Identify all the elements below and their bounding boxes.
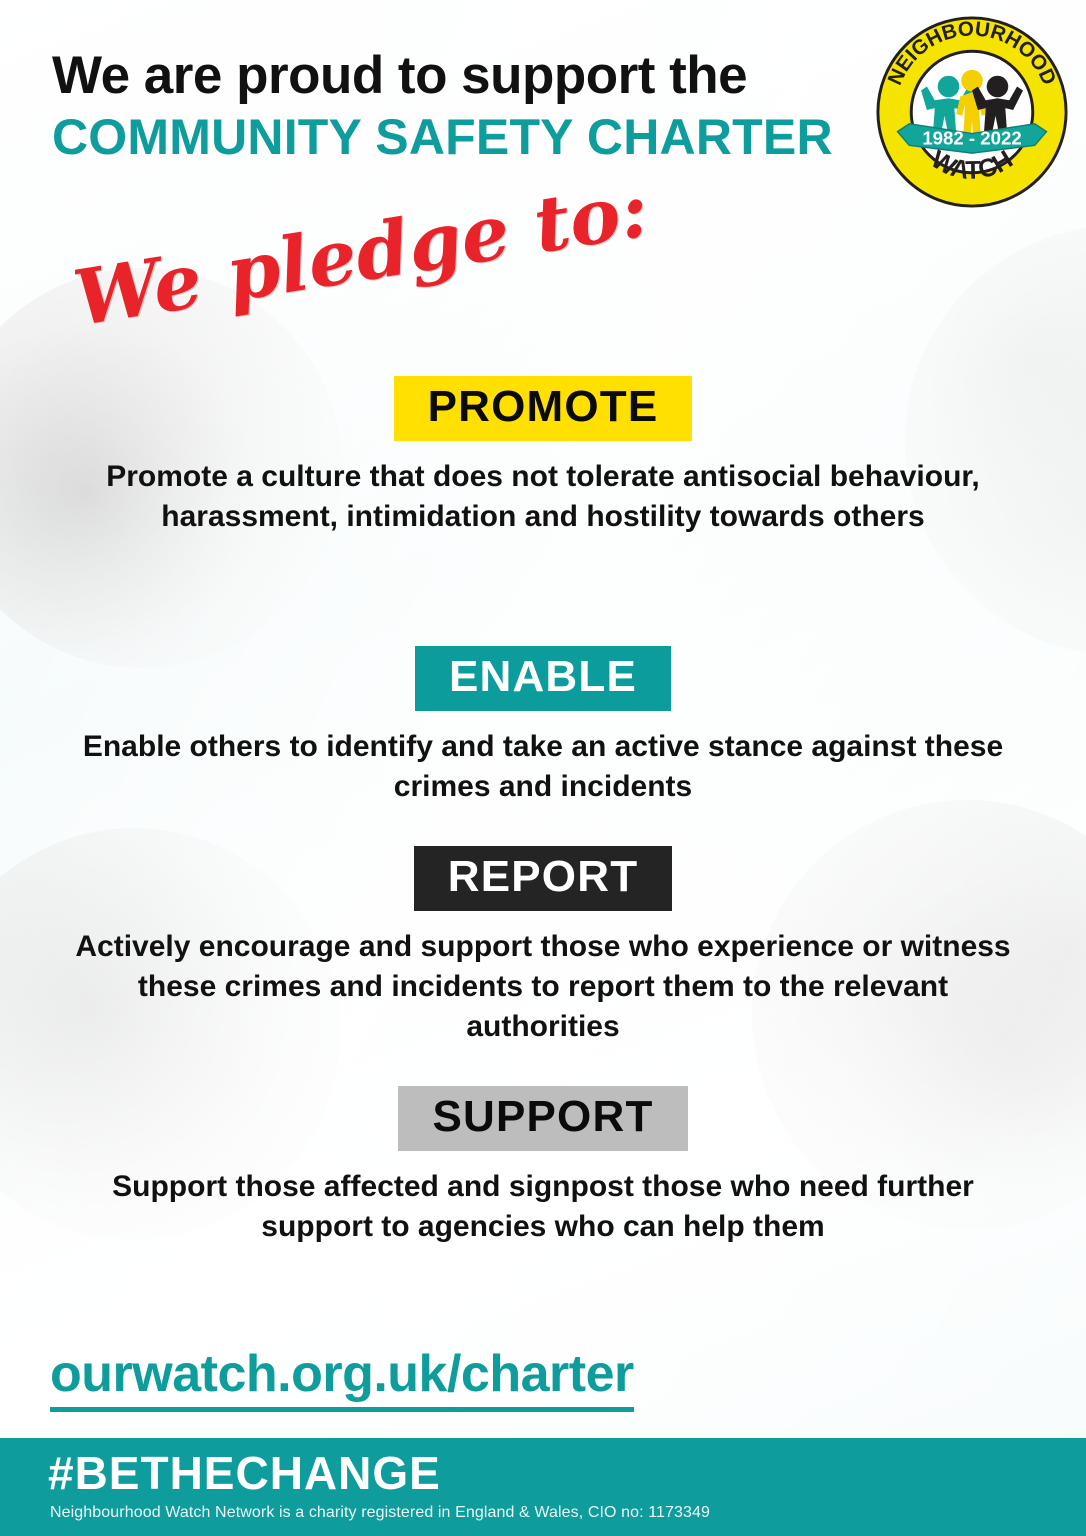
pledge-label-support: SUPPORT xyxy=(398,1086,687,1151)
pledge-body-report: Actively encourage and support those who… xyxy=(63,911,1023,1048)
pledge-body-enable: Enable others to identify and take an ac… xyxy=(43,711,1043,807)
pledge-body-promote: Promote a culture that does not tolerate… xyxy=(103,441,983,537)
pledge-label-report: REPORT xyxy=(414,846,673,911)
community-safety-charter-poster: We are proud to support the COMMUNITY SA… xyxy=(0,0,1086,1536)
pledge-block-enable: ENABLE Enable others to identify and tak… xyxy=(0,646,1086,807)
pledge-label-enable: ENABLE xyxy=(415,646,671,711)
charity-registration-note: Neighbourhood Watch Network is a charity… xyxy=(50,1504,710,1522)
logo-banner-text: 1982 - 2022 xyxy=(922,127,1021,148)
pledge-intro-heading: We pledge to: xyxy=(68,164,654,343)
headline-secondary: COMMUNITY SAFETY CHARTER xyxy=(52,110,932,165)
charter-url-link[interactable]: ourwatch.org.uk/charter xyxy=(50,1344,634,1412)
headline-primary: We are proud to support the xyxy=(52,48,932,104)
pledge-block-promote: PROMOTE Promote a culture that does not … xyxy=(0,376,1086,537)
neighbourhood-watch-logo: 1982 - 2022 NEIGHBOURHOOD WATCH xyxy=(874,14,1070,210)
poster-header: We are proud to support the COMMUNITY SA… xyxy=(52,48,932,165)
pledge-block-report: REPORT Actively encourage and support th… xyxy=(0,846,1086,1048)
pledge-block-support: SUPPORT Support those affected and signp… xyxy=(0,1086,1086,1247)
pledge-label-promote: PROMOTE xyxy=(394,376,693,441)
poster-footer-band: #BETHECHANGE Neighbourhood Watch Network… xyxy=(0,1438,1086,1536)
pledge-body-support: Support those affected and signpost thos… xyxy=(83,1151,1003,1247)
campaign-hashtag: #BETHECHANGE xyxy=(48,1450,441,1496)
